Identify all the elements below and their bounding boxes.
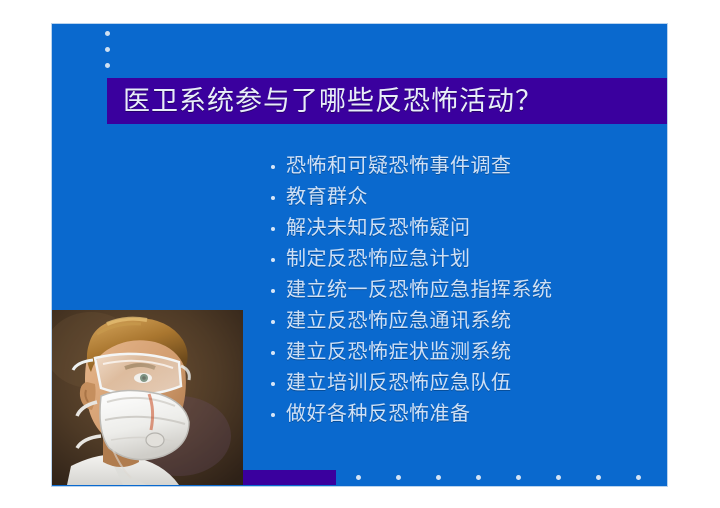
photo-respirator-mask [51,310,243,485]
decoration-dot-icon [516,475,521,480]
list-item-label: 教育群众 [286,182,368,213]
list-item: 制定反恐怖应急计划 [266,244,666,275]
top-decoration-dots [105,27,115,77]
list-item: 建立统一反恐怖应急指挥系统 [266,275,666,306]
bullet-dot-icon [266,213,286,244]
decoration-dot-icon [396,475,401,480]
list-item-label: 建立反恐怖应急通讯系统 [286,306,512,337]
bottom-accent-bar [243,470,336,485]
list-item-label: 建立反恐怖症状监测系统 [286,337,512,368]
list-item-label: 制定反恐怖应急计划 [286,244,471,275]
list-item-label: 解决未知反恐怖疑问 [286,213,471,244]
page-title: 医卫系统参与了哪些反恐怖活动？ [107,88,543,115]
bullet-dot-icon [266,182,286,213]
bullet-dot-icon [266,337,286,368]
bottom-decoration-dots [336,470,666,485]
bullet-list: 恐怖和可疑恐怖事件调查教育群众解决未知反恐怖疑问制定反恐怖应急计划建立统一反恐怖… [266,151,666,430]
bullet-dot-icon [266,306,286,337]
list-item: 做好各种反恐怖准备 [266,399,666,430]
decoration-dot-icon [105,47,110,52]
bullet-dot-icon [266,275,286,306]
list-item-label: 建立统一反恐怖应急指挥系统 [286,275,553,306]
list-item: 教育群众 [266,182,666,213]
list-item: 恐怖和可疑恐怖事件调查 [266,151,666,182]
list-item-label: 恐怖和可疑恐怖事件调查 [286,151,512,182]
list-item: 建立反恐怖症状监测系统 [266,337,666,368]
slide-body: 医卫系统参与了哪些反恐怖活动？ 恐怖和可疑恐怖事件调查教育群众解决未知反恐怖疑问… [51,23,668,487]
bullet-dot-icon [266,151,286,182]
bullet-dot-icon [266,368,286,399]
decoration-dot-icon [105,63,110,68]
decoration-dot-icon [356,475,361,480]
decoration-dot-icon [636,475,641,480]
list-item: 建立反恐怖应急通讯系统 [266,306,666,337]
list-item-label: 做好各种反恐怖准备 [286,399,471,430]
decoration-dot-icon [105,31,110,36]
bullet-dot-icon [266,399,286,430]
decoration-dot-icon [436,475,441,480]
decoration-dot-icon [556,475,561,480]
slide-title-band: 医卫系统参与了哪些反恐怖活动？ [107,78,668,124]
list-item-label: 建立培训反恐怖应急队伍 [286,368,512,399]
decoration-dot-icon [596,475,601,480]
list-item: 建立培训反恐怖应急队伍 [266,368,666,399]
list-item: 解决未知反恐怖疑问 [266,213,666,244]
bullet-dot-icon [266,244,286,275]
presentation-slide: 医卫系统参与了哪些反恐怖活动？ 恐怖和可疑恐怖事件调查教育群众解决未知反恐怖疑问… [0,0,720,508]
decoration-dot-icon [476,475,481,480]
